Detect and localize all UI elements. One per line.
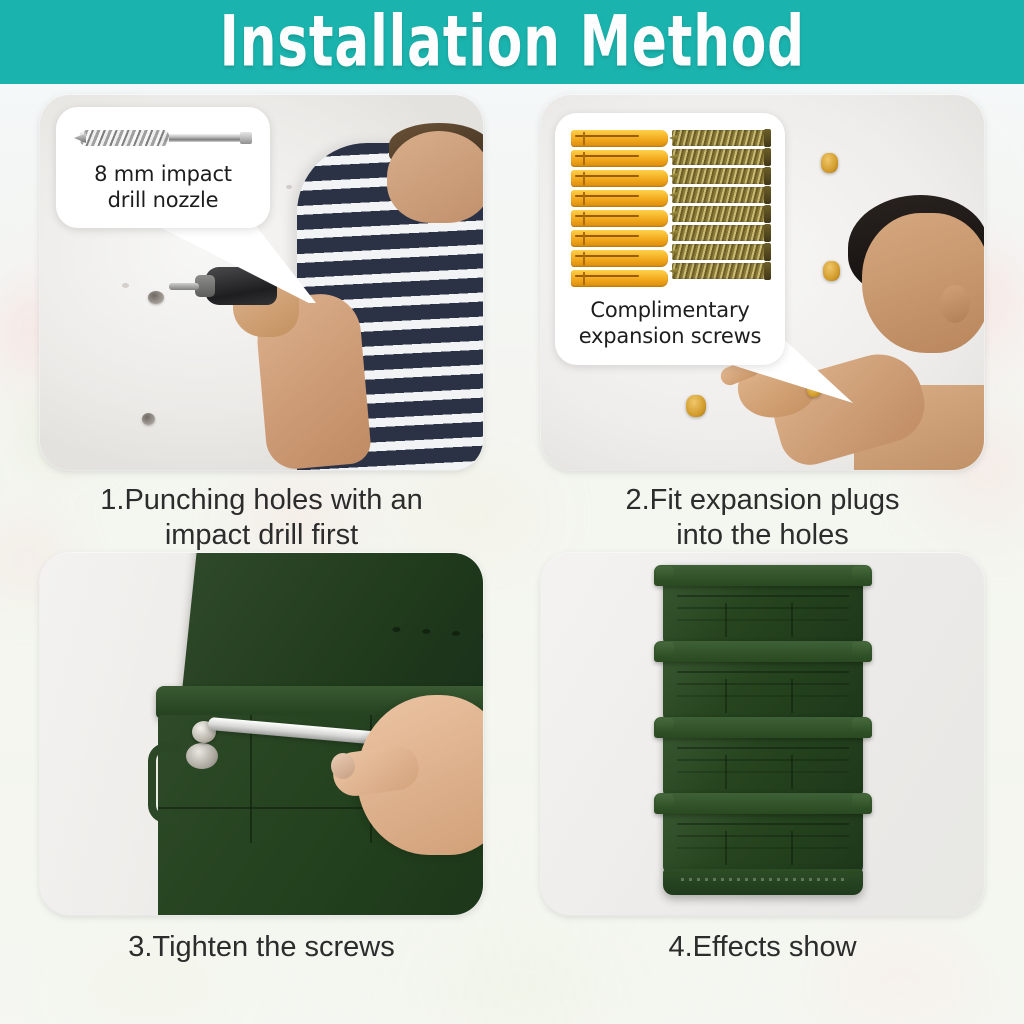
person-ear bbox=[940, 285, 970, 323]
planter-vents bbox=[677, 823, 849, 825]
planter-base bbox=[663, 869, 863, 895]
planter-vents bbox=[677, 671, 849, 673]
planter-ridge bbox=[791, 831, 793, 865]
expansion-plug bbox=[571, 130, 668, 147]
planter-ridge bbox=[791, 679, 793, 713]
drill-bit-icon bbox=[74, 125, 252, 151]
header-banner: Installation Method bbox=[0, 0, 1024, 84]
planter-ridge bbox=[725, 831, 727, 865]
expansion-plug bbox=[571, 270, 668, 287]
callout-box-step-2: Complimentary expansion screws bbox=[555, 113, 785, 365]
planter-box bbox=[663, 641, 863, 723]
planter-tab bbox=[656, 718, 674, 734]
step-2: Complimentary expansion screws 2.Fit exp… bbox=[541, 95, 984, 553]
person-head bbox=[862, 213, 984, 353]
expansion-plug-in-wall bbox=[821, 153, 838, 173]
mounting-screw bbox=[186, 743, 218, 769]
expansion-plug bbox=[571, 210, 668, 227]
planter-ridge bbox=[725, 755, 727, 789]
planter-tab bbox=[852, 566, 870, 582]
callout-box-step-1: 8 mm impact drill nozzle bbox=[56, 107, 270, 228]
step-2-caption: 2.Fit expansion plugs into the holes bbox=[625, 483, 899, 553]
drill-bit-shank bbox=[159, 134, 250, 142]
screw bbox=[672, 206, 769, 222]
callout-label: Complimentary expansion screws bbox=[567, 297, 773, 349]
drill-bit-flute bbox=[80, 130, 169, 146]
screw-column bbox=[672, 130, 769, 287]
planter-vents bbox=[677, 747, 849, 749]
planter-tab bbox=[852, 794, 870, 810]
planter-vents bbox=[677, 595, 849, 597]
page-title: Installation Method bbox=[219, 7, 804, 78]
screw bbox=[672, 187, 769, 203]
planter-box bbox=[663, 793, 863, 875]
step-1: 8 mm impact drill nozzle 1.Punching hole… bbox=[40, 95, 483, 553]
vent-hole bbox=[422, 629, 431, 634]
expansion-plug bbox=[571, 190, 668, 207]
wall-speck bbox=[286, 185, 292, 189]
planter-tab bbox=[852, 642, 870, 658]
screw bbox=[672, 130, 769, 146]
expansion-plug-in-wall bbox=[686, 395, 706, 417]
screw bbox=[672, 149, 769, 165]
step-3: 3.Tighten the screws bbox=[40, 553, 483, 1006]
planter-tab bbox=[656, 642, 674, 658]
planter-tab bbox=[656, 566, 674, 582]
planter-ridge bbox=[725, 679, 727, 713]
step-3-caption: 3.Tighten the screws bbox=[128, 930, 395, 965]
step-4-photo bbox=[541, 553, 984, 915]
planter-tab bbox=[852, 718, 870, 734]
vent-hole bbox=[392, 627, 401, 632]
step-1-photo: 8 mm impact drill nozzle bbox=[40, 95, 483, 470]
callout-label: 8 mm impact drill nozzle bbox=[70, 161, 256, 213]
step-4-caption: 4.Effects show bbox=[668, 930, 856, 965]
step-2-photo: Complimentary expansion screws bbox=[541, 95, 984, 470]
planter-seam bbox=[250, 715, 252, 843]
planter-box bbox=[663, 565, 863, 647]
planter-upper-box bbox=[181, 553, 483, 705]
planter-wall-hook bbox=[148, 743, 182, 823]
screw bbox=[672, 263, 769, 279]
infographic-page: Installation Method bbox=[0, 0, 1024, 1024]
step-4: 4.Effects show bbox=[541, 553, 984, 1006]
expansion-plug-in-wall bbox=[823, 261, 840, 281]
expansion-plug bbox=[571, 170, 668, 187]
planter-tab bbox=[656, 794, 674, 810]
planter-box bbox=[663, 717, 863, 799]
expansion-plug bbox=[571, 230, 668, 247]
expansion-plug bbox=[571, 250, 668, 267]
person-head bbox=[387, 131, 483, 223]
person-thumb bbox=[331, 753, 355, 779]
wall-speck bbox=[122, 283, 129, 288]
steps-grid: 8 mm impact drill nozzle 1.Punching hole… bbox=[0, 84, 1024, 1024]
step-1-caption: 1.Punching holes with an impact drill fi… bbox=[100, 483, 422, 553]
step-3-photo bbox=[40, 553, 483, 915]
screw bbox=[672, 225, 769, 241]
screw bbox=[672, 168, 769, 184]
planter-ridge bbox=[791, 755, 793, 789]
expansion-plug-column bbox=[571, 130, 668, 287]
screw bbox=[672, 244, 769, 260]
expansion-plug bbox=[571, 150, 668, 167]
planter-ridge bbox=[791, 603, 793, 637]
vent-hole bbox=[482, 633, 483, 638]
drill-bit bbox=[169, 283, 199, 290]
drilled-hole bbox=[142, 413, 155, 425]
vent-hole bbox=[452, 631, 461, 636]
drilled-hole bbox=[148, 291, 164, 304]
screws-and-plugs-icon bbox=[567, 127, 773, 297]
planter-stack bbox=[663, 565, 863, 895]
planter-ridge bbox=[725, 603, 727, 637]
